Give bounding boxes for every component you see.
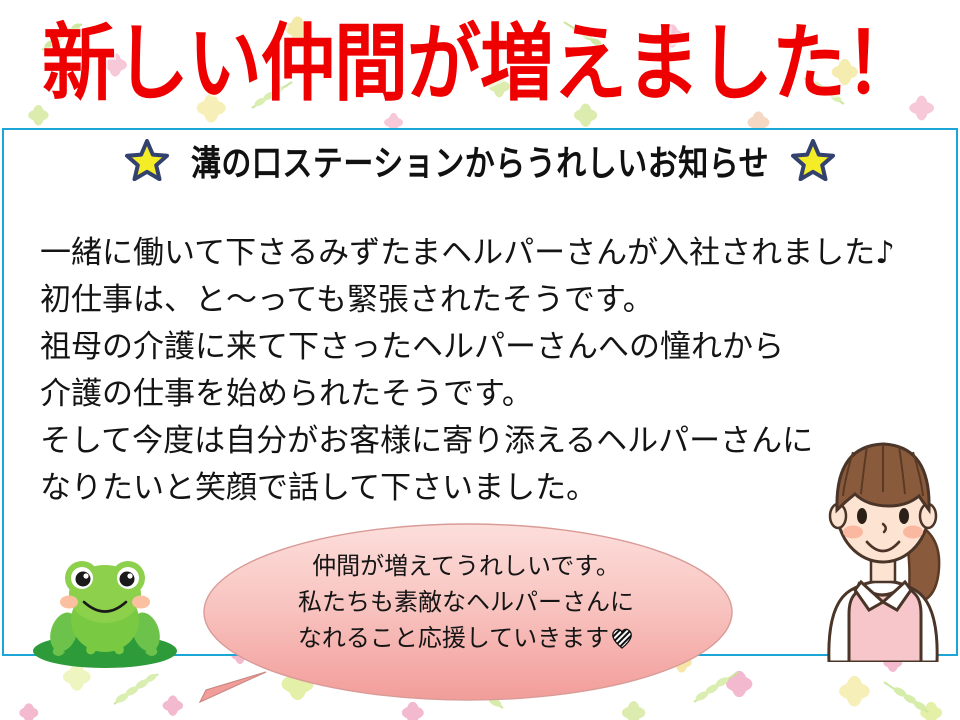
body-line: なりたいと笑顔で話して下さいました。	[40, 465, 930, 512]
body-line: 一緒に働いて下さるみずたまヘルパーさんが入社されました♪	[40, 230, 930, 277]
bubble-line: 仲間が増えてうれしいです。	[196, 548, 736, 584]
speech-bubble: 仲間が増えてうれしいです。 私たちも素敵なヘルパーさんに なれること応援していき…	[196, 520, 736, 715]
leaf-sprig-icon	[880, 676, 932, 716]
frog-eye-right	[120, 572, 135, 587]
star-icon	[791, 139, 835, 181]
helper-character-illustration	[805, 432, 960, 662]
poster-canvas: 新しい仲間が増えました！ 溝の口ステーションからうれしいお知らせ 一緒に働いて下…	[0, 0, 960, 720]
frog-cheek-left	[60, 596, 78, 609]
helper-eye-left	[857, 508, 867, 524]
announcement-body: 一緒に働いて下さるみずたまヘルパーさんが入社されました♪ 初仕事は、と～っても緊…	[40, 230, 930, 512]
helper-cheek-right	[903, 526, 923, 539]
body-line: 祖母の介護に来て下さったヘルパーさんへの憧れから	[40, 324, 930, 371]
body-line: 介護の仕事を始められたそうです。	[40, 371, 930, 418]
frog-illustration	[20, 548, 190, 668]
bubble-line: 私たちも素敵なヘルパーさんに	[196, 584, 736, 620]
speech-bubble-text: 仲間が増えてうれしいです。 私たちも素敵なヘルパーさんに なれること応援していき…	[196, 548, 736, 656]
star-icon	[125, 139, 169, 181]
bubble-line-text: なれること応援していきます	[298, 624, 609, 652]
helper-eye-right	[899, 508, 909, 524]
body-line: 初仕事は、と～っても緊張されたそうです。	[40, 277, 930, 324]
title-banner: 新しい仲間が増えました！	[0, 0, 960, 128]
helper-cheek-left	[843, 526, 863, 539]
poster-title: 新しい仲間が増えました！	[42, 22, 918, 106]
bubble-line: なれること応援していきます	[196, 620, 736, 656]
subtitle-row: 溝の口ステーションからうれしいお知らせ	[4, 138, 956, 182]
striped-heart-icon	[610, 627, 634, 649]
leaf-sprig-icon	[110, 668, 162, 708]
subtitle-heading: 溝の口ステーションからうれしいお知らせ	[191, 134, 769, 186]
body-line: そして今度は自分がお客様に寄り添えるヘルパーさんに	[40, 418, 930, 465]
speech-bubble-tail	[200, 672, 266, 702]
frog-cheek-right	[132, 596, 150, 609]
frog-eye-left	[76, 572, 91, 587]
